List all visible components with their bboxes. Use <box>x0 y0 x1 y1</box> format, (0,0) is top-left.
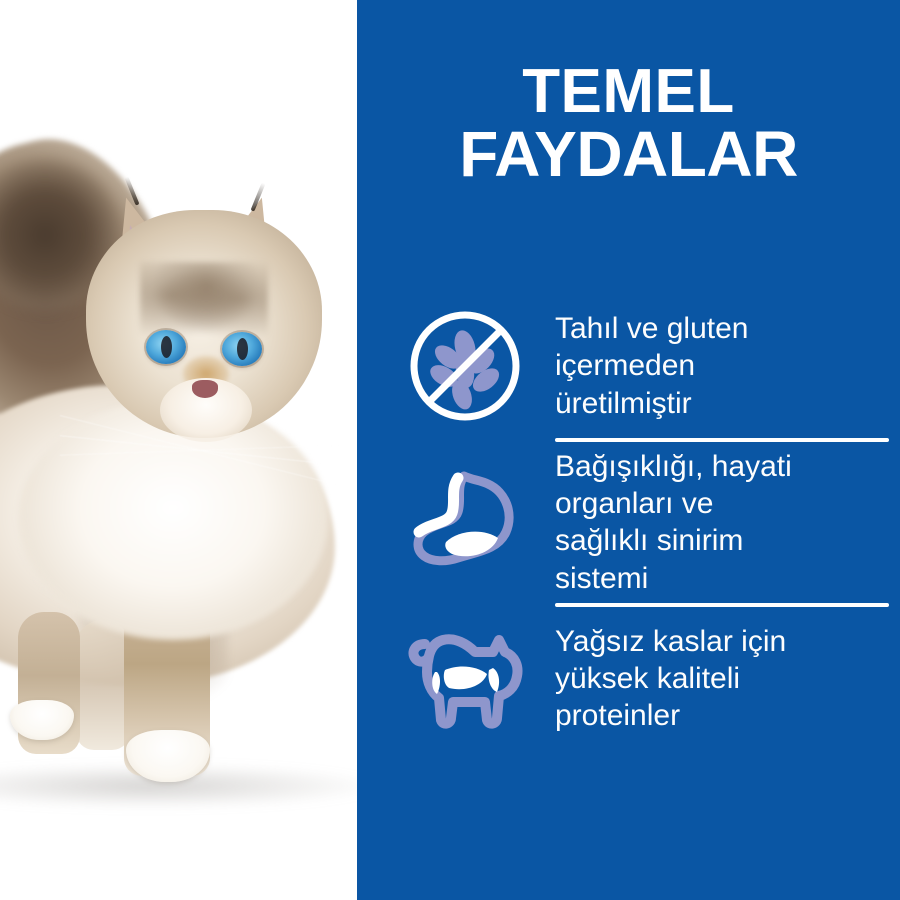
page-title-line-1: TEMEL <box>357 62 900 123</box>
cat-muscle-icon <box>399 613 531 745</box>
cat-pupil-left <box>161 336 172 358</box>
divider-spacer <box>399 438 531 442</box>
page-title-line-2: FAYDALAR <box>357 123 900 186</box>
benefit-divider-2 <box>555 603 889 607</box>
benefit-text-digestion: Bağışıklığı, hayati organları ve sağlıkl… <box>555 448 889 597</box>
page-title: TEMEL FAYDALAR <box>357 62 900 185</box>
divider-spacer <box>399 603 531 607</box>
benefit-text-protein: Yağsız kaslar için yüksek kaliteli prote… <box>555 623 889 735</box>
benefits-panel: TEMEL FAYDALAR <box>357 0 900 900</box>
benefit-item-grain-free: Tahıl ve gluten içermeden üretilmiştir <box>399 300 889 432</box>
benefits-list: Tahıl ve gluten içermeden üretilmiştir B… <box>399 300 889 745</box>
stomach-icon <box>399 456 531 588</box>
benefit-divider-1-row <box>399 438 889 442</box>
benefit-item-protein: Yağsız kaslar için yüksek kaliteli prote… <box>399 613 889 745</box>
cat-leg-back <box>76 620 130 750</box>
benefit-item-digestion: Bağışıklığı, hayati organları ve sağlıkl… <box>399 448 889 597</box>
benefit-text-grain-free: Tahıl ve gluten içermeden üretilmiştir <box>555 310 889 422</box>
cat-illustration <box>0 0 357 900</box>
cat-pupil-right <box>237 338 248 360</box>
benefit-divider-2-row <box>399 603 889 607</box>
cat-photo-panel <box>0 0 357 900</box>
poster-root: TEMEL FAYDALAR <box>0 0 900 900</box>
no-grain-icon <box>399 300 531 432</box>
benefit-divider-1 <box>555 438 889 442</box>
cat-whiskers <box>60 390 340 510</box>
